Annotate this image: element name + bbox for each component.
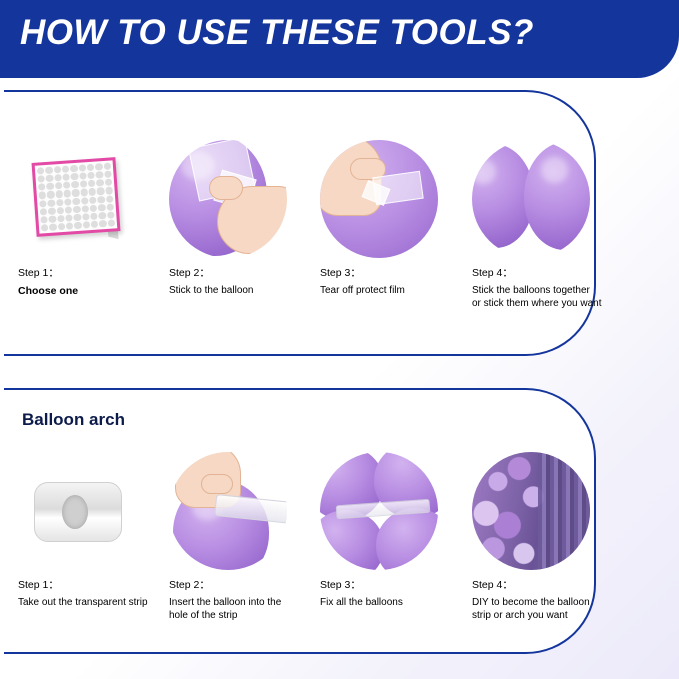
step-card-2-4: Step 4： DIY to become the balloon strip … — [472, 452, 617, 623]
step-description: Stick to the balloon — [169, 284, 314, 298]
step-label: Step 1： — [18, 579, 163, 593]
balloon-bottom-left — [320, 510, 384, 570]
step-illustration-arch-photo — [472, 452, 590, 570]
step-illustration-fixed-balloons — [320, 452, 438, 570]
finger-shape — [201, 474, 233, 494]
roll-hole — [62, 495, 88, 529]
step-label: Step 2： — [169, 579, 314, 593]
steps-row-1: Step 1： Choose one Step 2： Stick to the … — [4, 92, 594, 354]
step-description: Take out the transparent strip — [18, 596, 163, 610]
step-description: DIY to become the balloon strip or arch … — [472, 596, 617, 623]
step-card-1-4: Step 4： Stick the balloons together or s… — [472, 140, 617, 311]
step-description: Fix all the balloons — [320, 596, 465, 610]
step-card-1-2: Step 2： Stick to the balloon — [169, 140, 314, 297]
transparent-strip-roll — [34, 482, 122, 542]
step-illustration-insert-balloon — [169, 452, 287, 570]
balloon-right — [524, 142, 590, 250]
step-label: Step 4： — [472, 267, 617, 281]
page-title: HOW TO USE THESE TOOLS? — [20, 13, 534, 53]
step-illustration-tape-roll — [18, 452, 136, 570]
page-header: HOW TO USE THESE TOOLS? — [0, 0, 679, 78]
balloon-arch-photo — [472, 452, 590, 570]
step-label: Step 3： — [320, 579, 465, 593]
step-card-2-1: Step 1： Take out the transparent strip — [18, 452, 163, 609]
curtain-backdrop — [538, 452, 590, 570]
step-card-2-3: Step 3： Fix all the balloons — [320, 452, 465, 609]
step-illustration-two-balloons — [472, 140, 590, 258]
step-label: Step 1： — [18, 267, 163, 281]
step-card-1-1: Step 1： Choose one — [18, 140, 163, 298]
step-illustration-peel-film — [320, 140, 438, 258]
step-description: Choose one — [18, 284, 163, 298]
step-description: Stick the balloons together or stick the… — [472, 284, 617, 311]
step-illustration-hand-film-balloon — [169, 140, 287, 258]
step-card-1-3: Step 3： Tear off protect film — [320, 140, 465, 297]
step-description: Tear off protect film — [320, 284, 465, 298]
instruction-page: HOW TO USE THESE TOOLS? — [0, 0, 679, 679]
glue-dot-grid — [35, 160, 118, 233]
step-illustration-dot-sheet — [18, 140, 136, 258]
balloon-highlight — [541, 157, 568, 183]
glue-dot-sheet — [32, 157, 121, 237]
finger-shape — [209, 176, 243, 200]
section-glue-dots: Step 1： Choose one Step 2： Stick to the … — [4, 90, 596, 356]
balloon-bottom-right — [376, 508, 438, 570]
step-label: Step 2： — [169, 267, 314, 281]
step-label: Step 4： — [472, 579, 617, 593]
step-card-2-2: Step 2： Insert the balloon into the hole… — [169, 452, 314, 623]
step-description: Insert the balloon into the hole of the … — [169, 596, 314, 623]
balloon-highlight — [472, 159, 496, 184]
steps-row-2: Step 1： Take out the transparent strip S… — [4, 390, 594, 652]
section-balloon-arch: Balloon arch Step 1： Take out the transp… — [4, 388, 596, 654]
step-label: Step 3： — [320, 267, 465, 281]
